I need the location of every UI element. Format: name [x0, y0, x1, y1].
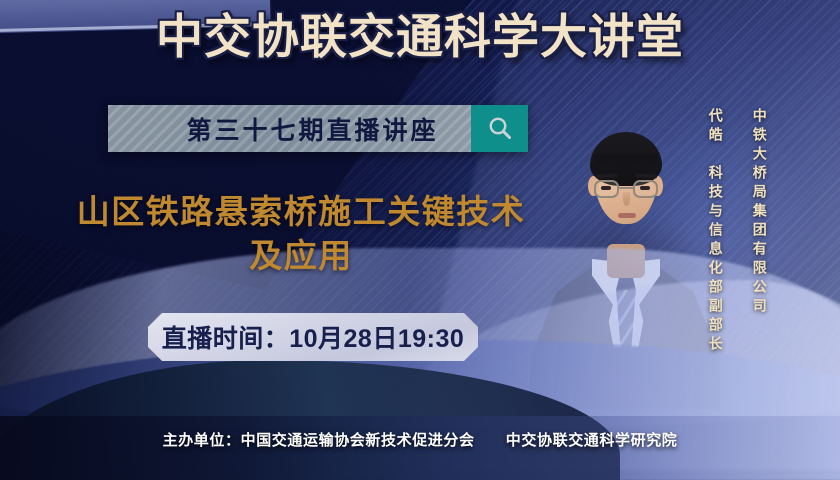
glasses-bridge-icon	[619, 187, 633, 189]
lecture-topic: 山区铁路悬索桥施工关键技术 及应用	[36, 190, 566, 277]
episode-banner: 第三十七期直播讲座	[108, 105, 528, 152]
search-button[interactable]	[471, 105, 528, 152]
speaker-eye-right	[640, 186, 650, 190]
lecture-topic-line1: 山区铁路悬索桥施工关键技术	[77, 192, 526, 231]
organizer-footer: 主办单位：中国交通运输协会新技术促进分会 中交协联交通科学研究院	[0, 429, 840, 450]
search-icon	[485, 114, 515, 144]
speaker-organization: 中铁大桥局集团有限公司	[752, 108, 767, 317]
episode-label: 第三十七期直播讲座	[140, 111, 438, 147]
speaker-name-and-title: 代皓 科技与信息化部副部长	[708, 108, 723, 355]
speaker-mouth	[618, 213, 636, 218]
live-stream-poster: 中交协联交通科学大讲堂 第三十七期直播讲座 山区铁路悬索桥施工关键技术 及应用 …	[0, 0, 840, 480]
lecture-topic-line2: 及应用	[36, 234, 566, 278]
speaker-nose	[623, 192, 630, 206]
episode-label-box: 第三十七期直播讲座	[108, 105, 471, 152]
speaker-eye-left	[601, 186, 611, 190]
schedule-text: 直播时间：10月28日19:30	[162, 319, 465, 355]
schedule-banner: 直播时间：10月28日19:30	[148, 313, 478, 361]
page-title: 中交协联交通科学大讲堂	[0, 14, 840, 61]
